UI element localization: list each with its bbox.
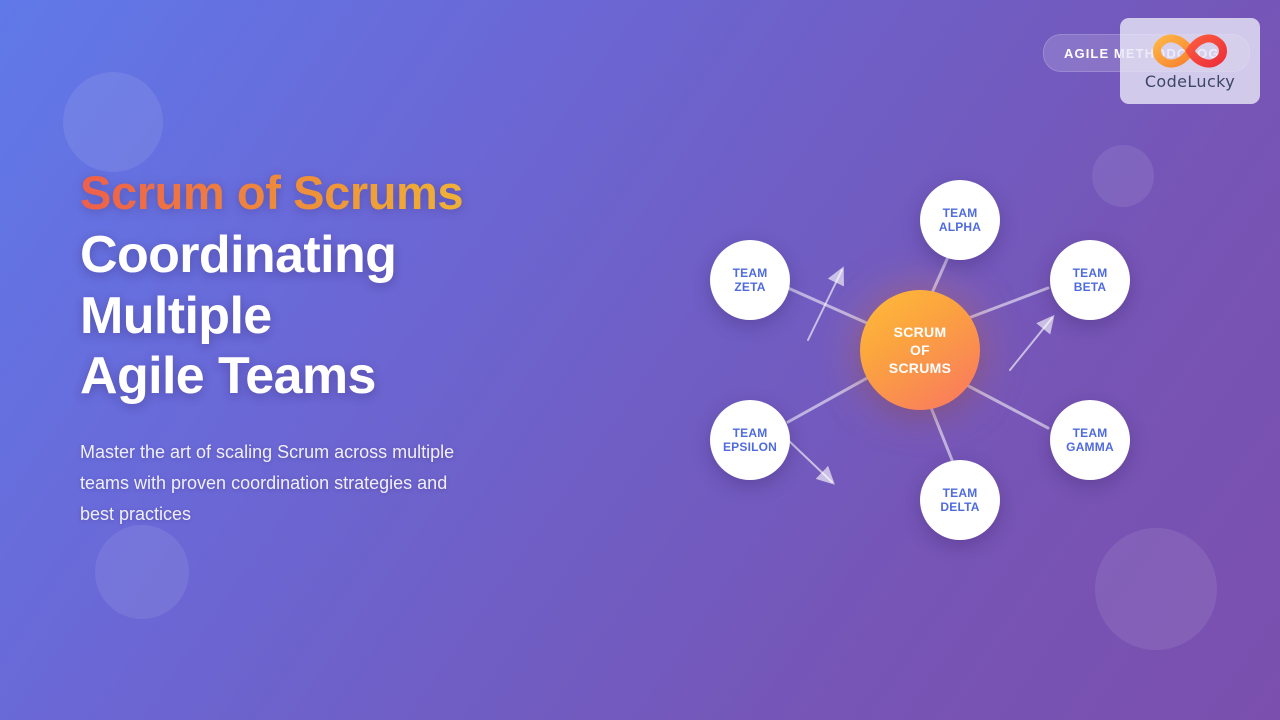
team-node-label-name: GAMMA [1066, 440, 1114, 454]
decorative-circle [63, 72, 163, 172]
hero-subheadline: Master the art of scaling Scrum across m… [80, 437, 480, 530]
infinity-icon [1144, 31, 1236, 71]
flow-arrow-beta [1010, 318, 1052, 370]
team-node-delta[interactable]: TEAM DELTA [920, 460, 1000, 540]
team-node-label-name: DELTA [940, 500, 979, 514]
team-node-label-name: EPSILON [723, 440, 777, 454]
headline-line-1: Coordinating [80, 225, 600, 286]
team-node-epsilon[interactable]: TEAM EPSILON [710, 400, 790, 480]
team-node-label-name: BETA [1074, 280, 1107, 294]
hub-node-scrum-of-scrums[interactable]: SCRUM OF SCRUMS [860, 290, 980, 410]
hero-text-block: Scrum of Scrums Coordinating Multiple Ag… [80, 168, 600, 530]
team-node-label-top: TEAM [733, 266, 768, 280]
flow-arrow-epsilon [788, 440, 832, 482]
codelucky-brand-text: CodeLucky [1145, 72, 1235, 91]
connector-hub-zeta [788, 288, 878, 328]
team-node-label-top: TEAM [943, 206, 978, 220]
team-node-label-top: TEAM [1073, 426, 1108, 440]
team-node-label-name: ZETA [734, 280, 765, 294]
slide-canvas: AGILE METHODOLOGY CodeLucky Scrum of Scr… [0, 0, 1280, 720]
hero-headline: Coordinating Multiple Agile Teams [80, 225, 600, 407]
flow-arrow-zeta [808, 270, 842, 340]
hub-line-1: SCRUM [894, 323, 947, 341]
team-node-label-name: ALPHA [939, 220, 981, 234]
scrum-of-scrums-diagram: SCRUM OF SCRUMS TEAM ALPHA TEAM BETA TEA… [680, 140, 1240, 580]
headline-line-3: Agile Teams [80, 346, 600, 407]
decorative-circle [95, 525, 189, 619]
hub-line-3: SCRUMS [889, 359, 951, 377]
headline-line-2: Multiple [80, 286, 600, 347]
hub-line-2: OF [910, 341, 930, 359]
team-node-alpha[interactable]: TEAM ALPHA [920, 180, 1000, 260]
team-node-label-top: TEAM [1073, 266, 1108, 280]
connector-hub-epsilon [788, 372, 878, 422]
team-node-gamma[interactable]: TEAM GAMMA [1050, 400, 1130, 480]
team-node-zeta[interactable]: TEAM ZETA [710, 240, 790, 320]
team-node-label-top: TEAM [943, 486, 978, 500]
team-node-label-top: TEAM [733, 426, 768, 440]
codelucky-watermark: CodeLucky [1120, 18, 1260, 104]
team-node-beta[interactable]: TEAM BETA [1050, 240, 1130, 320]
hero-eyebrow: Scrum of Scrums [80, 168, 600, 219]
